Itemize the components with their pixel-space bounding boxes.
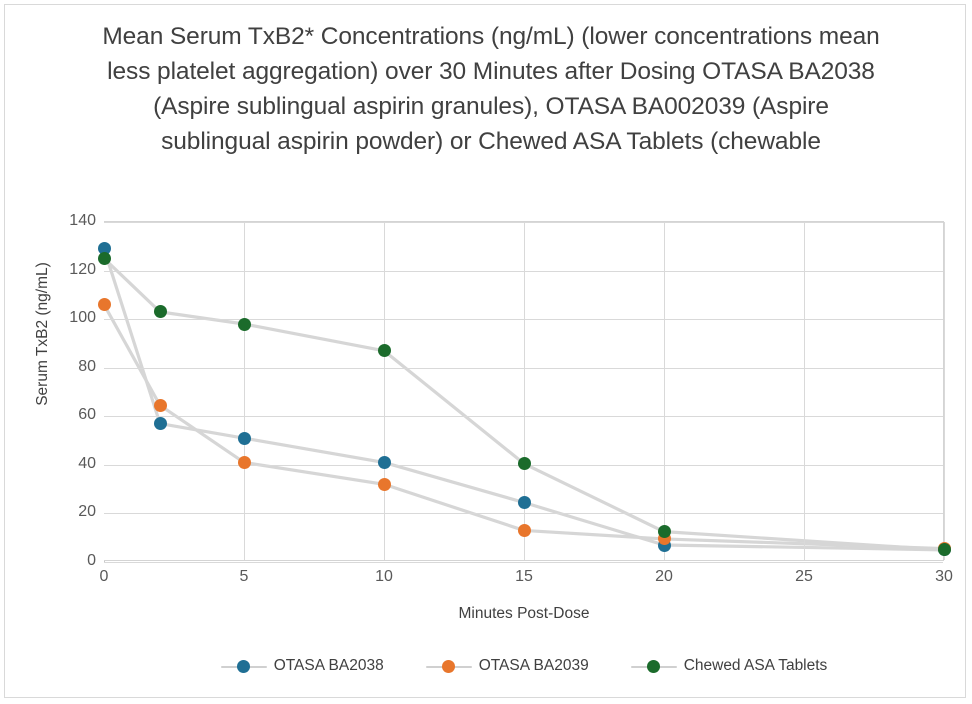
data-point-marker (938, 543, 951, 556)
y-axis-tick-label: 120 (46, 261, 96, 279)
x-axis-tick-label: 15 (494, 568, 554, 586)
data-point-marker (378, 344, 391, 357)
gridline-vertical (804, 222, 805, 560)
legend-marker-icon (631, 660, 677, 673)
data-point-marker (154, 417, 167, 430)
gridline-horizontal (104, 562, 943, 563)
y-axis-tick-label: 20 (46, 503, 96, 521)
data-point-marker (154, 305, 167, 318)
legend-marker-icon (221, 660, 267, 673)
x-axis-tick-label: 20 (634, 568, 694, 586)
legend-item[interactable]: OTASA BA2039 (426, 657, 589, 675)
x-axis-tick-labels: 051015202530 (104, 568, 944, 590)
legend-item[interactable]: Chewed ASA Tablets (631, 657, 828, 675)
x-axis-tick-label: 10 (354, 568, 414, 586)
y-axis-title: Serum TxB2 (ng/mL) (34, 224, 52, 444)
y-axis-tick-label: 60 (46, 406, 96, 424)
legend-label: OTASA BA2038 (274, 657, 384, 675)
legend-label: OTASA BA2039 (479, 657, 589, 675)
legend-dot-icon (647, 660, 660, 673)
data-point-marker (518, 496, 531, 509)
x-axis-tick-label: 30 (914, 568, 972, 586)
y-axis-tick-label: 40 (46, 455, 96, 473)
data-point-marker (238, 432, 251, 445)
data-point-marker (658, 525, 671, 538)
data-point-marker (238, 456, 251, 469)
plot-wrapper: 020406080100120140 051015202530 Minutes … (5, 5, 967, 699)
x-axis-tick-label: 25 (774, 568, 834, 586)
gridline-vertical (944, 222, 945, 560)
gridline-vertical (524, 222, 525, 560)
gridline-vertical (664, 222, 665, 560)
legend-dot-icon (237, 660, 250, 673)
data-point-marker (518, 524, 531, 537)
y-axis-tick-label: 100 (46, 309, 96, 327)
data-point-marker (98, 252, 111, 265)
data-point-marker (238, 318, 251, 331)
legend-marker-icon (426, 660, 472, 673)
data-point-marker (378, 456, 391, 469)
data-point-marker (98, 298, 111, 311)
legend-label: Chewed ASA Tablets (684, 657, 828, 675)
chart-legend: OTASA BA2038OTASA BA2039Chewed ASA Table… (104, 657, 944, 675)
data-point-marker (154, 399, 167, 412)
plot-area (104, 221, 944, 561)
legend-dot-icon (442, 660, 455, 673)
chart-card: Mean Serum TxB2* Concentrations (ng/mL) … (4, 4, 966, 698)
x-axis-tick-label: 5 (214, 568, 274, 586)
gridline-vertical (244, 222, 245, 560)
gridline-vertical (384, 222, 385, 560)
data-point-marker (518, 457, 531, 470)
x-axis-title: Minutes Post-Dose (104, 605, 944, 623)
y-axis-tick-label: 80 (46, 358, 96, 376)
legend-item[interactable]: OTASA BA2038 (221, 657, 384, 675)
y-axis-tick-label: 140 (46, 212, 96, 230)
x-axis-tick-label: 0 (74, 568, 134, 586)
data-point-marker (378, 478, 391, 491)
